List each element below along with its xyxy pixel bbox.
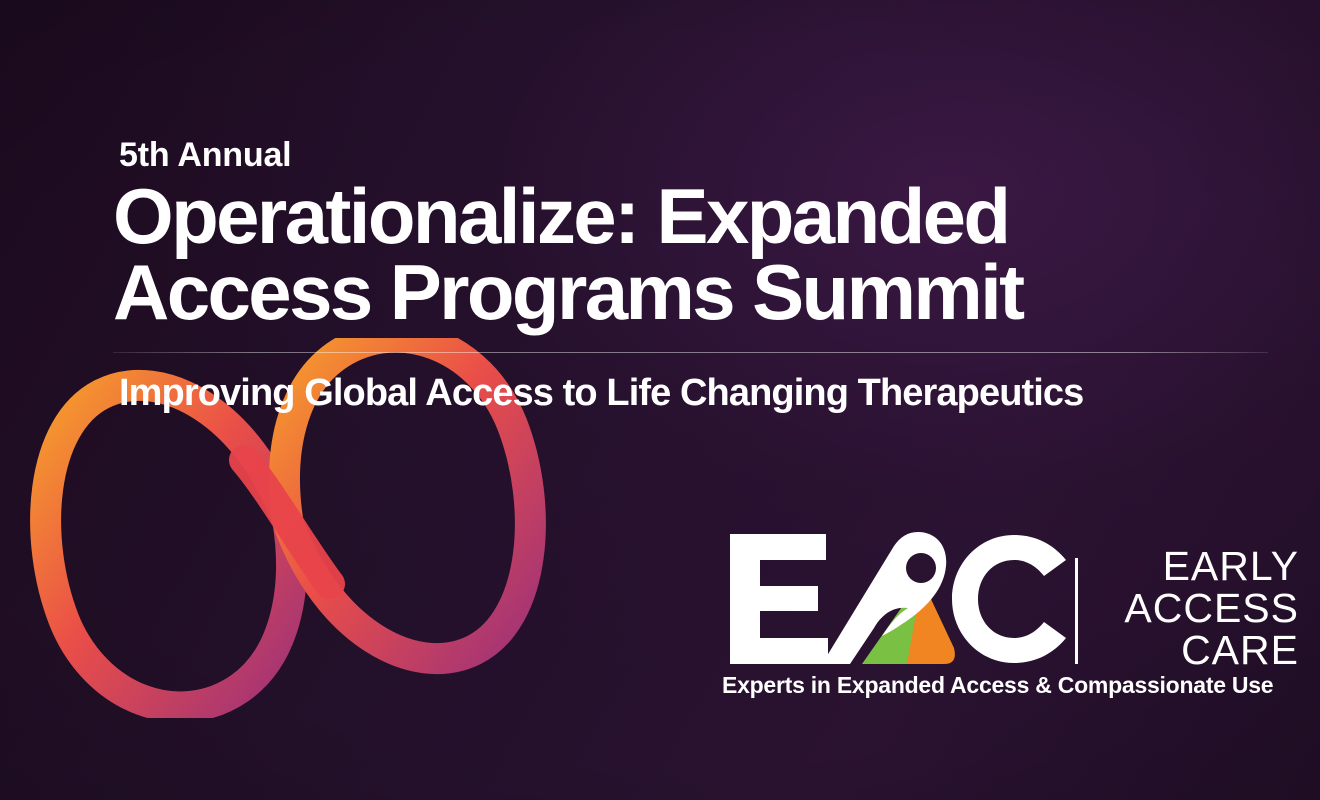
event-kicker: 5th Annual (119, 138, 1273, 172)
logo-vertical-divider (1075, 558, 1078, 664)
logo-word-early: EARLY (1094, 546, 1299, 588)
eac-monogram-icon (722, 528, 1074, 670)
event-subtitle: Improving Global Access to Life Changing… (119, 374, 1273, 412)
event-banner: 5th Annual Operationalize: Expanded Acce… (0, 0, 1320, 800)
event-title-line-1: Operationalize: Expanded (113, 180, 1273, 253)
logo-wordmark: EARLY ACCESS CARE (1094, 546, 1299, 671)
logo-tagline: Experts in Expanded Access & Compassiona… (722, 672, 1300, 699)
event-title-line-2: Access Programs Summit (113, 256, 1273, 329)
logo-word-access: ACCESS (1094, 588, 1299, 630)
headline-block: 5th Annual Operationalize: Expanded Acce… (113, 138, 1273, 412)
eac-logo-lockup: EARLY ACCESS CARE Experts in Expanded Ac… (722, 528, 1302, 708)
logo-word-care: CARE (1094, 630, 1299, 672)
logo-row: EARLY ACCESS CARE (722, 528, 1302, 670)
divider-rule (113, 352, 1268, 353)
